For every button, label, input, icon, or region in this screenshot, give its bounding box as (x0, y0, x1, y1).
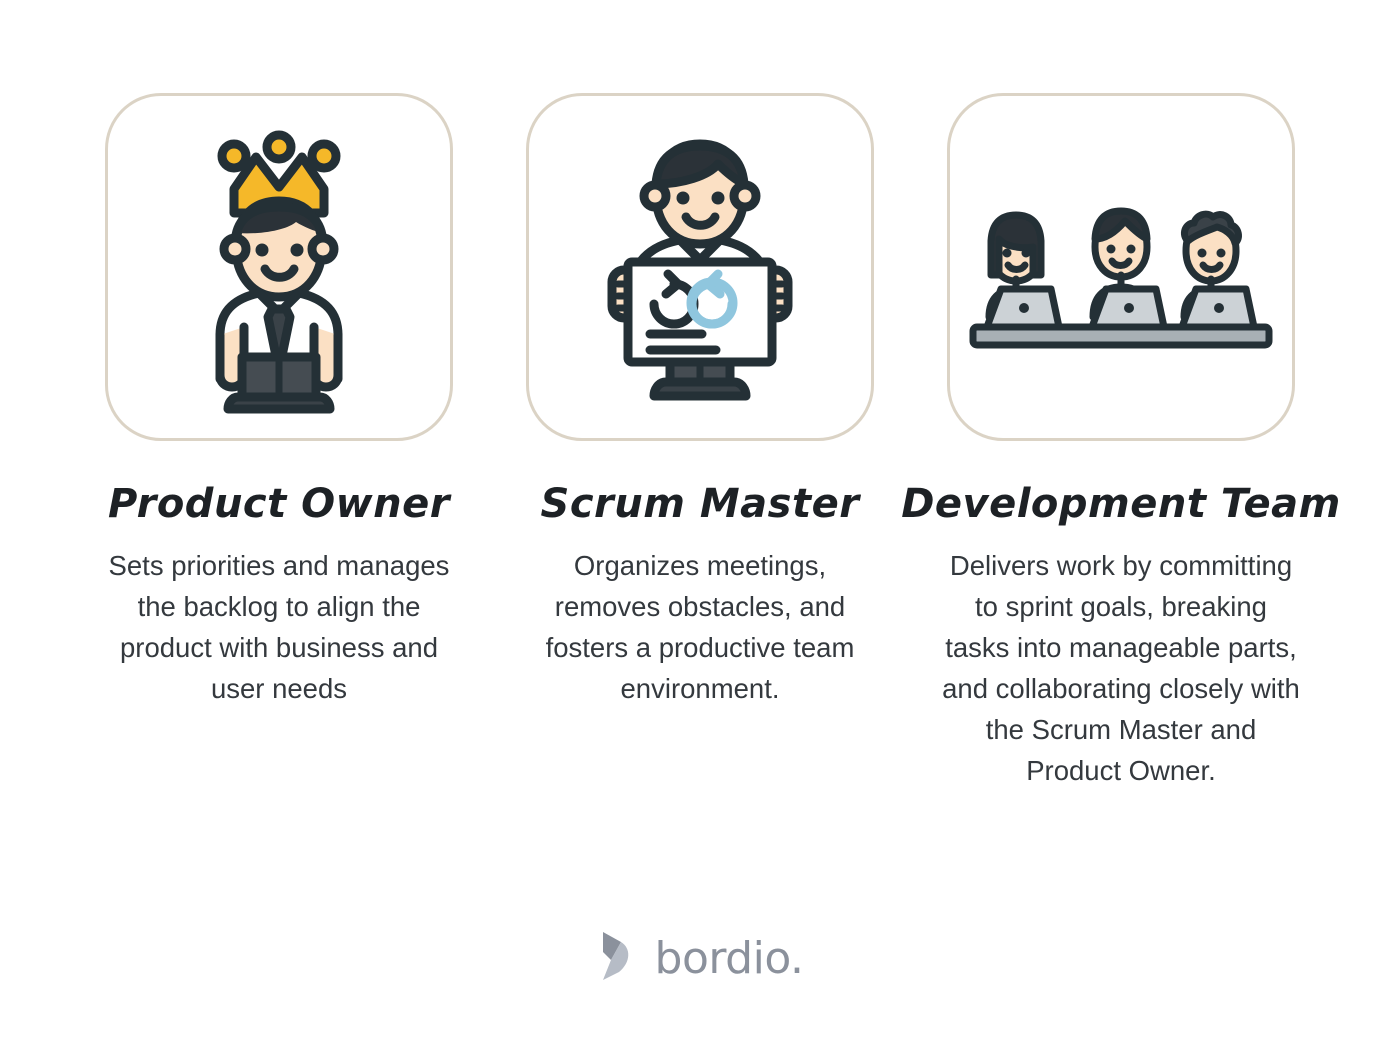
role-title: Scrum Master (541, 483, 860, 525)
role-column-scrum-master: Scrum Master Organizes meetings, removes… (520, 93, 880, 709)
three-people-with-laptops-icon (961, 177, 1281, 357)
roles-row: Product Owner Sets priorities and manage… (0, 93, 1400, 791)
role-column-product-owner: Product Owner Sets priorities and manage… (99, 93, 459, 709)
icon-card-scrum-master (526, 93, 874, 441)
role-column-development-team: Development Team Delivers work by commit… (941, 93, 1301, 791)
bordio-logo[interactable]: bordio. (0, 930, 1400, 987)
bordio-wordmark: bordio. (655, 937, 804, 981)
role-title: Product Owner (108, 483, 450, 525)
person-with-crown-icon (164, 117, 394, 417)
infographic-page: Product Owner Sets priorities and manage… (0, 0, 1400, 1050)
role-description: Organizes meetings, removes obstacles, a… (525, 545, 875, 709)
bordio-chevron-mark-icon (597, 930, 641, 987)
role-description: Sets priorities and manages the backlog … (104, 545, 454, 709)
icon-card-product-owner (105, 93, 453, 441)
icon-card-development-team (947, 93, 1295, 441)
role-title: Development Team (901, 483, 1341, 525)
person-holding-scrum-board-icon (570, 122, 830, 412)
role-description: Delivers work by committing to sprint go… (940, 545, 1302, 791)
